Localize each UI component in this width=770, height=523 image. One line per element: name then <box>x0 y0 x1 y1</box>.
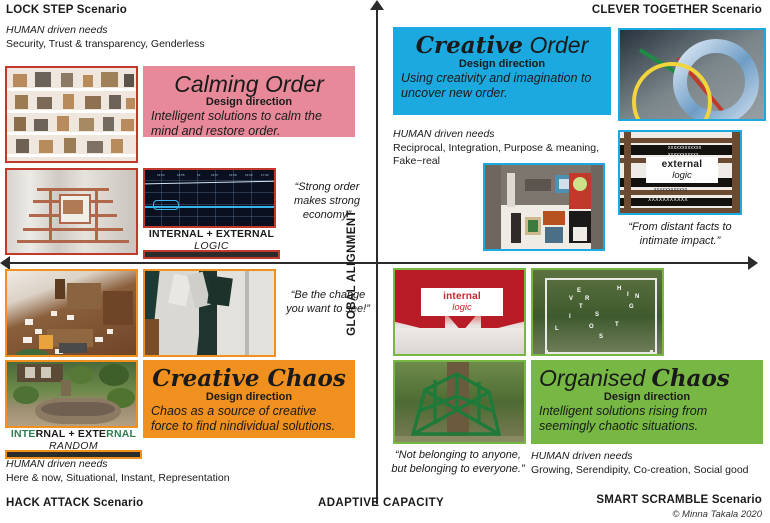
card-creative-order: Creative Order Design direction Using cr… <box>393 27 611 115</box>
card-calming-order: Calming Order Design direction Intellige… <box>143 66 355 137</box>
card-title-plain: Order <box>529 32 588 58</box>
needs-block-hack-attack: HUMAN driven needs Here & now, Situation… <box>6 458 346 485</box>
net-label: internal logic <box>421 288 503 316</box>
needs-block-smart-scramble: HUMAN driven needs Growing, Serendipity,… <box>531 450 759 477</box>
photo-red-net: internal logic <box>393 268 526 356</box>
caption-line1: INTERNAL + EXTERNAL <box>143 228 280 240</box>
needs-body: Growing, Serendipity, Co-creation, Socia… <box>531 464 759 478</box>
photo-garden-tub <box>5 360 138 428</box>
copyright-notice: © Minna Takala 2020 <box>672 509 762 520</box>
needs-heading: HUMAN driven needs <box>6 24 336 38</box>
scenario-label-clever-together: CLEVER TOGETHER Scenario <box>592 4 762 16</box>
horizontal-axis-line <box>4 262 756 264</box>
quote-be-the-change: “Be the change you want to see!” <box>282 288 374 316</box>
caption-internal-external-random: INTERNAL + EXTERNAL RANDOM <box>5 428 142 452</box>
card-body: Intelligent solutions to calm the mind a… <box>151 109 347 137</box>
quote-not-belonging: “Not belonging to anyone, but belonging … <box>388 448 528 476</box>
vertical-axis-label: GLOBAL ALIGNMENT <box>346 210 370 336</box>
photo-letter-board: E V R T H I N G I S L O T S <box>531 268 664 356</box>
photo-green-dome <box>393 360 526 444</box>
dome-graphic <box>395 362 526 444</box>
needs-heading: HUMAN driven needs <box>531 450 759 464</box>
card-title: Organised Chaos <box>539 365 755 392</box>
net-label-line2: logic <box>452 302 472 313</box>
photo-data-screen: 16:5416:55 1616:57 16:5816:59 17:00 <box>143 168 276 228</box>
scenario-label-lock-step: LOCK STEP Scenario <box>6 4 127 16</box>
card-title: Creative Chaos <box>151 365 347 392</box>
vertical-axis-line <box>376 4 378 504</box>
photo-pipe-corridor <box>5 168 138 255</box>
card-title-script: Creative <box>416 32 523 59</box>
scenario-label-smart-scramble: SMART SCRAMBLE Scenario <box>596 494 762 506</box>
photo-shirts <box>143 269 276 357</box>
photo-colored-rings <box>618 28 766 121</box>
card-title-plain: Organised <box>539 365 645 391</box>
card-design-direction-label: Design direction <box>539 391 755 403</box>
photo-messy-office <box>5 269 138 357</box>
card-title-plain: Order <box>265 71 324 97</box>
card-body: Intelligent solutions rising from seemin… <box>539 404 755 434</box>
photo-external-logic-planks: xxxxxxxxxxxx xxxxxxxxxxx xxxxxxxxxxxx XX… <box>618 130 742 215</box>
caption-line1: INTERNAL + EXTERNAL <box>5 428 142 440</box>
card-organised-chaos: Organised Chaos Design direction Intelli… <box>531 360 763 444</box>
photo-cabinet-diorama <box>483 163 605 251</box>
horizontal-axis-label: ADAPTIVE CAPACITY <box>318 497 444 509</box>
quote-strong-order: “Strong order makes strong economy” <box>282 180 372 222</box>
rings-graphic <box>620 30 766 121</box>
card-design-direction-label: Design direction <box>401 58 603 70</box>
photo-shelf-units <box>5 66 138 163</box>
plank-label: external logic <box>646 157 718 183</box>
card-design-direction-label: Design direction <box>151 96 347 108</box>
card-design-direction-label: Design direction <box>151 391 347 403</box>
card-title-script: Chaos <box>652 365 730 392</box>
photo-screen-base <box>143 250 280 259</box>
needs-block-lock-step: HUMAN driven needs Security, Trust & tra… <box>6 24 336 51</box>
net-label-line1: internal <box>443 291 481 302</box>
card-title: Creative Order <box>401 32 603 59</box>
needs-heading: HUMAN driven needs <box>393 128 613 142</box>
card-body: Chaos as a source of creative force to f… <box>151 404 347 434</box>
card-creative-chaos: Creative Chaos Design direction Chaos as… <box>143 360 355 438</box>
card-body: Using creativity and imagination to unco… <box>401 71 603 101</box>
card-title-script: Calming <box>174 71 258 97</box>
card-title: Calming Order <box>151 71 347 97</box>
plank-label-line2: logic <box>672 170 692 181</box>
quote-distant-facts: “From distant facts to intimate impact.” <box>614 220 746 248</box>
scenario-label-hack-attack: HACK ATTACK Scenario <box>6 497 143 509</box>
needs-body: Here & now, Situational, Instant, Repres… <box>6 472 346 486</box>
caption-internal-external-logic: INTERNAL + EXTERNAL LOGIC <box>143 228 280 252</box>
plank-label-line1: external <box>662 159 703 170</box>
card-title-script: Creative Chaos <box>152 365 346 392</box>
horizontal-axis-arrow-right <box>748 256 758 270</box>
needs-body: Security, Trust & transparency, Genderle… <box>6 38 336 52</box>
horizontal-axis-arrow-left <box>0 256 10 270</box>
needs-heading: HUMAN driven needs <box>6 458 346 472</box>
